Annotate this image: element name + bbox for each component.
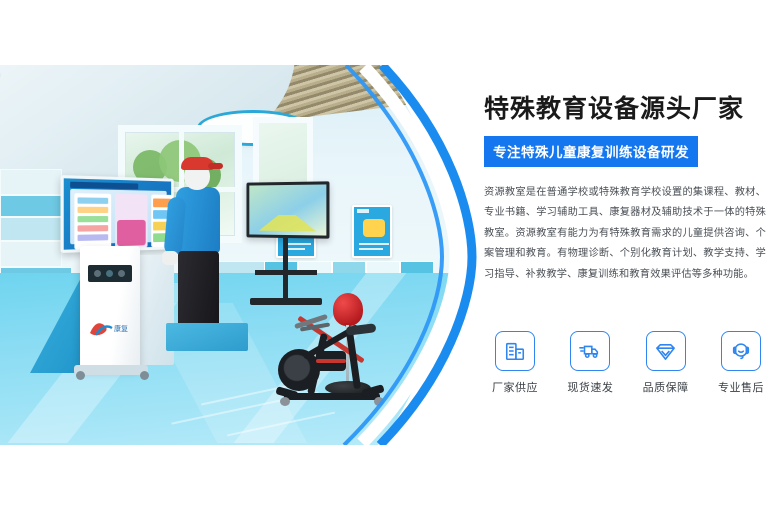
- building-icon: [495, 331, 535, 371]
- truck-icon: [570, 331, 610, 371]
- description-paragraph: 资源教室是在普通学校或特殊教育学校设置的集课程、教材、专业书籍、学习辅助工具、康…: [484, 183, 766, 286]
- feature-label: 品质保障: [635, 379, 697, 395]
- page-title: 特殊教育设备源头厂家: [484, 95, 769, 123]
- feature-item-factory-supply[interactable]: 厂家供应: [484, 331, 546, 395]
- feature-label: 现货速发: [559, 379, 621, 395]
- feature-item-fast-shipping[interactable]: 现货速发: [559, 331, 621, 395]
- classroom-photo: 康复: [0, 65, 472, 445]
- diamond-icon: [646, 331, 686, 371]
- platform-step: [166, 323, 248, 351]
- feature-list: 厂家供应 现货速发 品质保障: [484, 331, 772, 395]
- headset-icon: [721, 331, 761, 371]
- feature-label: 专业售后: [710, 379, 772, 395]
- wall-poster: [352, 205, 392, 258]
- promo-banner: 康复: [0, 0, 775, 517]
- subtitle-badge: 专注特殊儿童康复训练设备研发: [484, 136, 698, 167]
- spin-bike: [270, 315, 400, 407]
- red-cap-icon: [181, 157, 214, 170]
- feature-item-after-sales[interactable]: 专业售后: [710, 331, 772, 395]
- copy-block: 特殊教育设备源头厂家 专注特殊儿童康复训练设备研发 资源教室是在普通学校或特殊教…: [484, 95, 769, 286]
- feature-label: 厂家供应: [484, 379, 546, 395]
- svg-text:康复: 康复: [114, 324, 128, 333]
- feature-item-quality[interactable]: 品质保障: [635, 331, 697, 395]
- kiosk-brand-logo: 康复: [86, 315, 134, 341]
